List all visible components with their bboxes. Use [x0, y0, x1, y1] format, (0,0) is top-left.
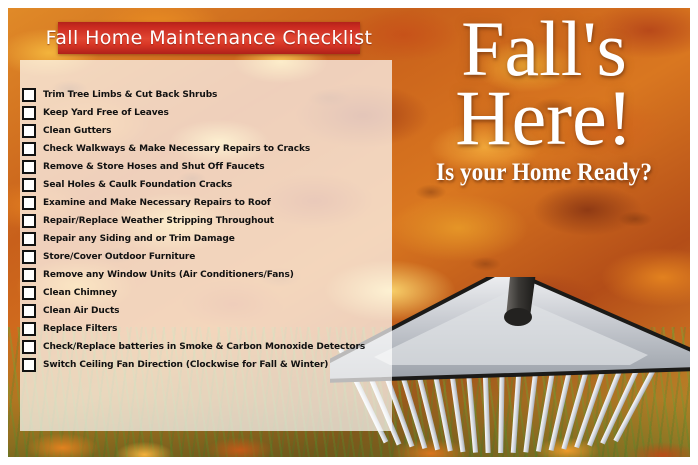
list-item[interactable]: Check Walkways & Make Necessary Repairs … [22, 140, 382, 158]
list-item[interactable]: Seal Holes & Caulk Foundation Cracks [22, 176, 382, 194]
checkbox-empty-icon[interactable] [22, 250, 36, 264]
checkbox-empty-icon[interactable] [22, 124, 36, 138]
hero-subtitle: Is your Home Ready? [408, 160, 680, 185]
list-item-label: Repair/Replace Weather Stripping Through… [43, 217, 274, 226]
checkbox-empty-icon[interactable] [22, 88, 36, 102]
list-item[interactable]: Repair/Replace Weather Stripping Through… [22, 212, 382, 230]
checkbox-empty-icon[interactable] [22, 106, 36, 120]
checkbox-empty-icon[interactable] [22, 340, 36, 354]
checkbox-empty-icon[interactable] [22, 178, 36, 192]
checkbox-empty-icon[interactable] [22, 160, 36, 174]
checkbox-empty-icon[interactable] [22, 142, 36, 156]
list-item[interactable]: Clean Gutters [22, 122, 382, 140]
checkbox-empty-icon[interactable] [22, 232, 36, 246]
checkbox-empty-icon[interactable] [22, 322, 36, 336]
hero-line-2: Here! [398, 81, 690, 156]
list-item-label: Seal Holes & Caulk Foundation Cracks [43, 181, 232, 190]
list-item[interactable]: Clean Air Ducts [22, 302, 382, 320]
list-item[interactable]: Switch Ceiling Fan Direction (Clockwise … [22, 356, 382, 374]
checkbox-empty-icon[interactable] [22, 214, 36, 228]
list-item[interactable]: Trim Tree Limbs & Cut Back Shrubs [22, 86, 382, 104]
maintenance-checklist: Trim Tree Limbs & Cut Back Shrubs Keep Y… [22, 86, 382, 374]
checkbox-empty-icon[interactable] [22, 286, 36, 300]
list-item-label: Keep Yard Free of Leaves [43, 109, 169, 118]
checkbox-empty-icon[interactable] [22, 196, 36, 210]
list-item-label: Check Walkways & Make Necessary Repairs … [43, 145, 310, 154]
list-item-label: Replace Filters [43, 325, 117, 334]
list-item[interactable]: Examine and Make Necessary Repairs to Ro… [22, 194, 382, 212]
list-item-label: Store/Cover Outdoor Furniture [43, 253, 195, 262]
checkbox-empty-icon[interactable] [22, 304, 36, 318]
title-banner: Fall Home Maintenance Checklist [58, 22, 360, 54]
list-item-label: Clean Air Ducts [43, 307, 119, 316]
list-item-label: Clean Gutters [43, 127, 111, 136]
list-item[interactable]: Replace Filters [22, 320, 382, 338]
list-item-label: Examine and Make Necessary Repairs to Ro… [43, 199, 271, 208]
list-item[interactable]: Check/Replace batteries in Smoke & Carbo… [22, 338, 382, 356]
list-item[interactable]: Repair any Siding and or Trim Damage [22, 230, 382, 248]
list-item-label: Repair any Siding and or Trim Damage [43, 235, 235, 244]
list-item[interactable]: Clean Chimney [22, 284, 382, 302]
list-item-label: Clean Chimney [43, 289, 117, 298]
list-item-label: Switch Ceiling Fan Direction (Clockwise … [43, 361, 328, 370]
list-item[interactable]: Store/Cover Outdoor Furniture [22, 248, 382, 266]
list-item-label: Trim Tree Limbs & Cut Back Shrubs [43, 91, 217, 100]
list-item-label: Check/Replace batteries in Smoke & Carbo… [43, 343, 365, 352]
list-item-label: Remove any Window Units (Air Conditioner… [43, 271, 294, 280]
list-item-label: Remove & Store Hoses and Shut Off Faucet… [43, 163, 265, 172]
hero-headline: Fall's Here! Is your Home Ready? [398, 12, 690, 185]
list-item[interactable]: Remove any Window Units (Air Conditioner… [22, 266, 382, 284]
checkbox-empty-icon[interactable] [22, 268, 36, 282]
fall-maintenance-poster: Fall Home Maintenance Checklist Trim Tre… [0, 0, 698, 465]
list-item[interactable]: Keep Yard Free of Leaves [22, 104, 382, 122]
checkbox-empty-icon[interactable] [22, 358, 36, 372]
page-title: Fall Home Maintenance Checklist [46, 29, 373, 48]
list-item[interactable]: Remove & Store Hoses and Shut Off Faucet… [22, 158, 382, 176]
